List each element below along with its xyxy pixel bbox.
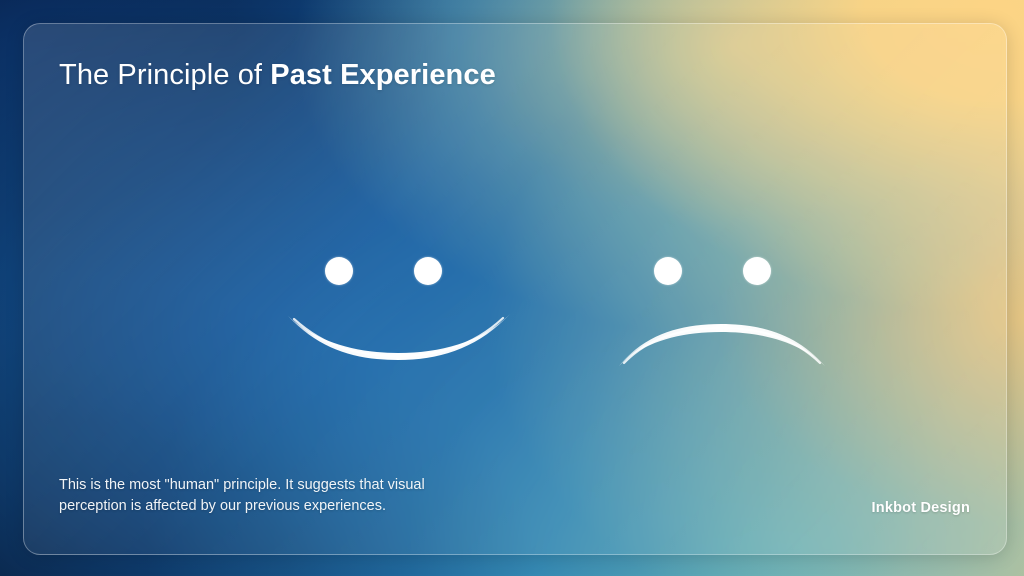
smile-mouth-icon — [286, 310, 516, 366]
caption-line-2: perception is affected by our previous e… — [59, 498, 386, 514]
slide-title: The Principle of Past Experience — [59, 58, 496, 93]
happy-face — [302, 234, 512, 374]
happy-face-eye-left-icon — [325, 257, 353, 285]
title-bold-part: Past Experience — [270, 59, 496, 91]
slide-caption: This is the most "human" principle. It s… — [59, 475, 479, 518]
sad-face — [631, 234, 841, 374]
sad-face-eye-right-icon — [743, 257, 771, 285]
brand-label: Inkbot Design — [872, 500, 970, 516]
frown-mouth-icon — [617, 322, 827, 372]
caption-line-1: This is the most "human" principle. It s… — [59, 477, 425, 493]
happy-face-eye-right-icon — [414, 257, 442, 285]
sad-face-eye-left-icon — [654, 257, 682, 285]
slide-root: The Principle of Past Experience — [0, 0, 1024, 576]
glass-card: The Principle of Past Experience — [23, 23, 1007, 555]
title-light-part: The Principle of — [59, 59, 270, 91]
